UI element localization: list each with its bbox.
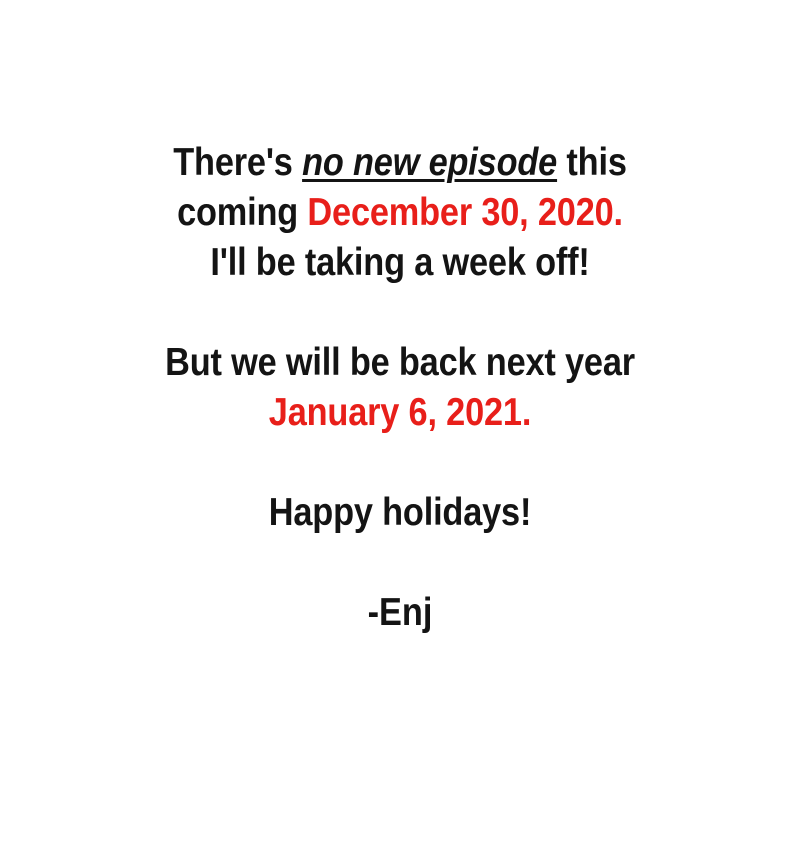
paragraph-gap-2 bbox=[0, 438, 800, 488]
line-2-text-before: coming bbox=[177, 191, 307, 234]
author-signature: -Enj bbox=[48, 588, 752, 638]
line-1-text-before: There's bbox=[173, 141, 302, 184]
no-new-episode-emphasis: no new episode bbox=[302, 141, 557, 184]
line-1-text-after: this bbox=[557, 141, 627, 184]
skip-date-highlight: December 30, 2020. bbox=[307, 191, 622, 234]
paragraph-gap-1 bbox=[0, 288, 800, 338]
announcement-card: There's no new episode this coming Decem… bbox=[0, 0, 800, 852]
message-line-1: There's no new episode this bbox=[48, 138, 752, 188]
paragraph-gap-3 bbox=[0, 538, 800, 588]
message-body: There's no new episode this coming Decem… bbox=[0, 138, 800, 638]
return-date-highlight: January 6, 2021. bbox=[48, 388, 752, 438]
closing-greeting: Happy holidays! bbox=[48, 488, 752, 538]
message-line-4: But we will be back next year bbox=[48, 338, 752, 388]
message-line-2: coming December 30, 2020. bbox=[48, 188, 752, 238]
message-line-3: I'll be taking a week off! bbox=[48, 238, 752, 288]
